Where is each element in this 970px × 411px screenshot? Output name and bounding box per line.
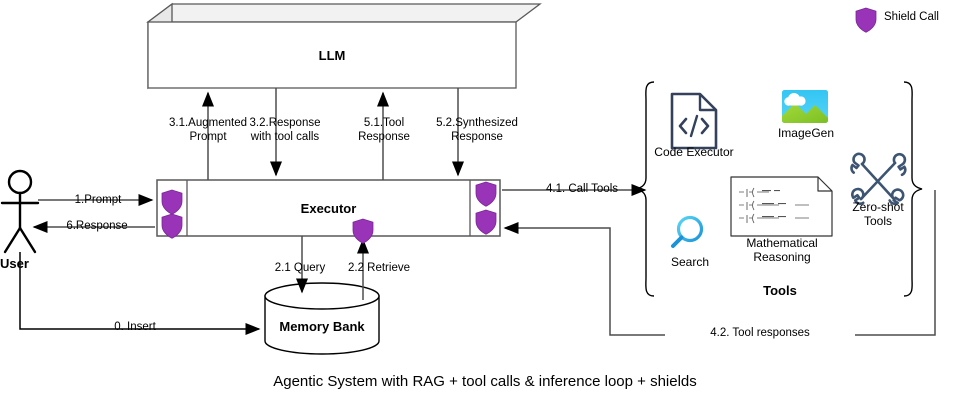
crossed-wrenches-icon[interactable] (851, 154, 905, 204)
zeroshot-label-line2: Tools (838, 214, 918, 228)
magnifier-icon[interactable] (673, 218, 702, 247)
edge-label-3-2-line2: with tool calls (232, 131, 338, 145)
edge-label-5-1-line1: 5.1.Tool (345, 117, 423, 131)
memory-bank-label: Memory Bank (265, 319, 379, 334)
edge-label-5-2-line1: 5.2.Synthesized (425, 117, 529, 131)
edge-label-4-1-call-tools: 4.1. Call Tools (533, 183, 631, 197)
edge-label-3-2-line1: 3.2.Response (232, 117, 338, 131)
edge-label-3-2: 3.2.Response with tool calls (232, 117, 338, 144)
cylinder-top (265, 283, 379, 309)
legend-label: Shield Call (884, 11, 939, 23)
imagegen-icon[interactable] (782, 90, 828, 123)
shield-exec-bottom-center (353, 219, 373, 243)
tools-left-brace (636, 82, 654, 296)
user-label: User (0, 256, 42, 271)
llm-node[interactable] (148, 4, 540, 88)
legend-shield-icon (856, 8, 876, 32)
executor-label: Executor (187, 201, 470, 216)
tool-label-search: Search (659, 255, 721, 269)
formula-page-icon[interactable] (731, 177, 832, 236)
edge-label-4-2-tool-responses: 4.2. Tool responses (665, 327, 855, 341)
edge-label-2-2-retrieve: 2.2 Retrieve (337, 262, 421, 276)
user-leg-right (20, 228, 35, 252)
edge-label-5-1-line2: Response (345, 131, 423, 145)
llm-cube-top (148, 4, 540, 22)
edge-label-5-2-line2: Response (425, 131, 529, 145)
user-node[interactable] (2, 171, 38, 252)
edge-label-2-1-query: 2.1 Query (263, 262, 337, 276)
edge-label-5-2: 5.2.Synthesized Response (425, 117, 529, 144)
tool-label-zero-shot-tools: Zero-shot Tools (838, 200, 918, 228)
tool-label-code-executor: Code Executor (648, 145, 740, 159)
edge-label-5-1: 5.1.Tool Response (345, 117, 423, 144)
tools-group-label: Tools (720, 283, 840, 298)
zeroshot-label-line1: Zero-shot (838, 200, 918, 214)
math-label-line2: Reasoning (720, 250, 844, 264)
math-label-line1: Mathematical (720, 236, 844, 250)
tool-label-mathematical-reasoning: Mathematical Reasoning (720, 236, 844, 264)
edge-label-0-insert: 0. Insert (95, 321, 175, 335)
user-leg-left (5, 228, 20, 252)
user-head (9, 171, 31, 193)
edge-label-1-prompt: 1.Prompt (54, 194, 142, 208)
code-executor-icon[interactable] (672, 94, 716, 148)
edge-0-insert (20, 252, 259, 329)
llm-label: LLM (148, 48, 516, 63)
diagram-caption: Agentic System with RAG + tool calls & i… (0, 373, 970, 390)
tool-label-imagegen: ImageGen (772, 126, 840, 140)
tools-right-brace (904, 82, 922, 296)
edge-label-6-response: 6.Response (47, 220, 147, 234)
